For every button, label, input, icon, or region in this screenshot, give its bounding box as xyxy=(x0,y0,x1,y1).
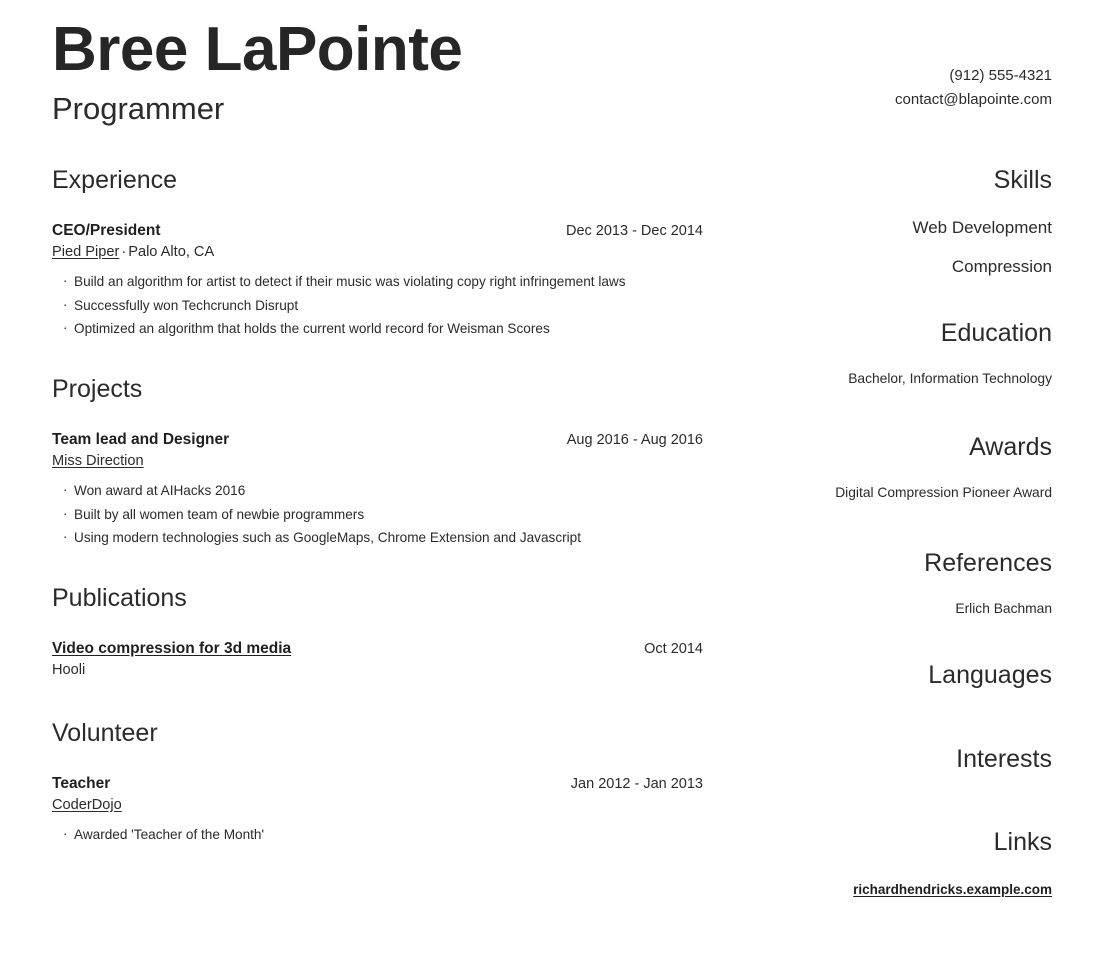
bullet-item: Build an algorithm for artist to detect … xyxy=(63,272,703,295)
entry-organization-link[interactable]: CoderDojo xyxy=(52,797,122,813)
entry-organization-link[interactable]: Miss Direction xyxy=(52,453,144,469)
entry-header-row: CEO/President Dec 2013 - Dec 2014 xyxy=(52,221,703,241)
section-heading-projects: Projects xyxy=(52,376,703,404)
sidebar-heading-interests: Interests xyxy=(741,746,1052,774)
main-column: Experience CEO/President Dec 2013 - Dec … xyxy=(52,167,703,882)
project-entry: Team lead and Designer Aug 2016 - Aug 20… xyxy=(52,430,703,551)
skill-item: Web Development xyxy=(741,217,1052,239)
publication-entry: Video compression for 3d media Oct 2014 … xyxy=(52,639,703,681)
skill-item: Compression xyxy=(741,256,1052,278)
entry-date: Dec 2013 - Dec 2014 xyxy=(548,222,703,241)
bullet-item: Won award at AIHacks 2016 xyxy=(63,481,703,504)
entry-separator: · xyxy=(119,244,128,260)
languages-empty-list xyxy=(741,690,1052,694)
entry-header-row: Video compression for 3d media Oct 2014 xyxy=(52,639,703,659)
entry-title: Teacher xyxy=(52,774,110,794)
sidebar-section-references: References Erlich Bachman xyxy=(741,550,1052,618)
sidebar-heading-education: Education xyxy=(741,320,1052,348)
publication-title-link[interactable]: Video compression for 3d media xyxy=(52,639,291,659)
entry-subtitle: Pied Piper·Palo Alto, CA xyxy=(52,243,703,263)
bullet-item: Built by all women team of newbie progra… xyxy=(63,505,703,528)
entry-header-row: Teacher Jan 2012 - Jan 2013 xyxy=(52,774,703,794)
resume-page: Bree LaPointe Programmer (912) 555-4321 … xyxy=(0,0,1104,963)
contact-block: (912) 555-4321 contact@blapointe.com xyxy=(895,18,1052,113)
bullet-item: Awarded 'Teacher of the Month' xyxy=(63,825,703,848)
section-heading-publications: Publications xyxy=(52,585,703,613)
entry-subtitle: CoderDojo xyxy=(52,796,703,816)
volunteer-entry: Teacher Jan 2012 - Jan 2013 CoderDojo Aw… xyxy=(52,774,703,849)
resume-header: Bree LaPointe Programmer (912) 555-4321 … xyxy=(0,0,1104,127)
award-item: Digital Compression Pioneer Award xyxy=(741,484,1052,503)
interests-empty-list xyxy=(741,773,1052,777)
sidebar-heading-links: Links xyxy=(741,829,1052,857)
entry-header-row: Team lead and Designer Aug 2016 - Aug 20… xyxy=(52,430,703,450)
sidebar-heading-awards: Awards xyxy=(741,434,1052,462)
sidebar-section-awards: Awards Digital Compression Pioneer Award xyxy=(741,434,1052,502)
entry-date: Jan 2012 - Jan 2013 xyxy=(553,775,703,794)
section-heading-experience: Experience xyxy=(52,167,703,195)
sidebar-heading-references: References xyxy=(741,550,1052,578)
entry-bullet-list: Awarded 'Teacher of the Month' xyxy=(52,825,703,848)
entry-organization-link[interactable]: Pied Piper xyxy=(52,244,119,260)
contact-phone[interactable]: (912) 555-4321 xyxy=(895,64,1052,88)
sidebar-heading-skills: Skills xyxy=(741,167,1052,195)
contact-email[interactable]: contact@blapointe.com xyxy=(895,88,1052,112)
entry-date: Aug 2016 - Aug 2016 xyxy=(549,431,703,450)
section-experience: Experience CEO/President Dec 2013 - Dec … xyxy=(52,167,703,342)
section-projects: Projects Team lead and Designer Aug 2016… xyxy=(52,376,703,551)
sidebar-section-links: Links richardhendricks.example.com xyxy=(741,829,1052,899)
section-volunteer: Volunteer Teacher Jan 2012 - Jan 2013 Co… xyxy=(52,720,703,848)
bullet-item: Optimized an algorithm that holds the cu… xyxy=(63,319,703,342)
education-item: Bachelor, Information Technology xyxy=(741,370,1052,389)
reference-item: Erlich Bachman xyxy=(741,600,1052,619)
link-item-wrapper: richardhendricks.example.com xyxy=(741,881,1052,899)
publication-publisher: Hooli xyxy=(52,661,703,681)
sidebar-heading-languages: Languages xyxy=(741,662,1052,690)
entry-title: CEO/President xyxy=(52,221,161,241)
sidebar-section-skills: Skills Web Development Compression xyxy=(741,167,1052,278)
entry-title: Team lead and Designer xyxy=(52,430,229,450)
entry-date: Oct 2014 xyxy=(626,640,703,659)
sidebar-section-languages: Languages xyxy=(741,662,1052,694)
experience-entry: CEO/President Dec 2013 - Dec 2014 Pied P… xyxy=(52,221,703,342)
section-publications: Publications Video compression for 3d me… xyxy=(52,585,703,680)
entry-bullet-list: Won award at AIHacks 2016 Built by all w… xyxy=(52,481,703,551)
bullet-item: Successfully won Techcrunch Disrupt xyxy=(63,296,703,319)
bullet-item: Using modern technologies such as Google… xyxy=(63,528,703,551)
resume-body: Experience CEO/President Dec 2013 - Dec … xyxy=(0,167,1104,899)
sidebar-column: Skills Web Development Compression Educa… xyxy=(703,167,1052,899)
entry-subtitle: Miss Direction xyxy=(52,452,703,472)
identity-block: Bree LaPointe Programmer xyxy=(52,18,462,127)
website-link[interactable]: richardhendricks.example.com xyxy=(853,882,1052,897)
full-name: Bree LaPointe xyxy=(52,18,462,81)
entry-location: Palo Alto, CA xyxy=(128,244,214,260)
entry-bullet-list: Build an algorithm for artist to detect … xyxy=(52,272,703,342)
sidebar-section-interests: Interests xyxy=(741,746,1052,778)
sidebar-section-education: Education Bachelor, Information Technolo… xyxy=(741,320,1052,388)
section-heading-volunteer: Volunteer xyxy=(52,720,703,748)
job-title: Programmer xyxy=(52,90,462,127)
